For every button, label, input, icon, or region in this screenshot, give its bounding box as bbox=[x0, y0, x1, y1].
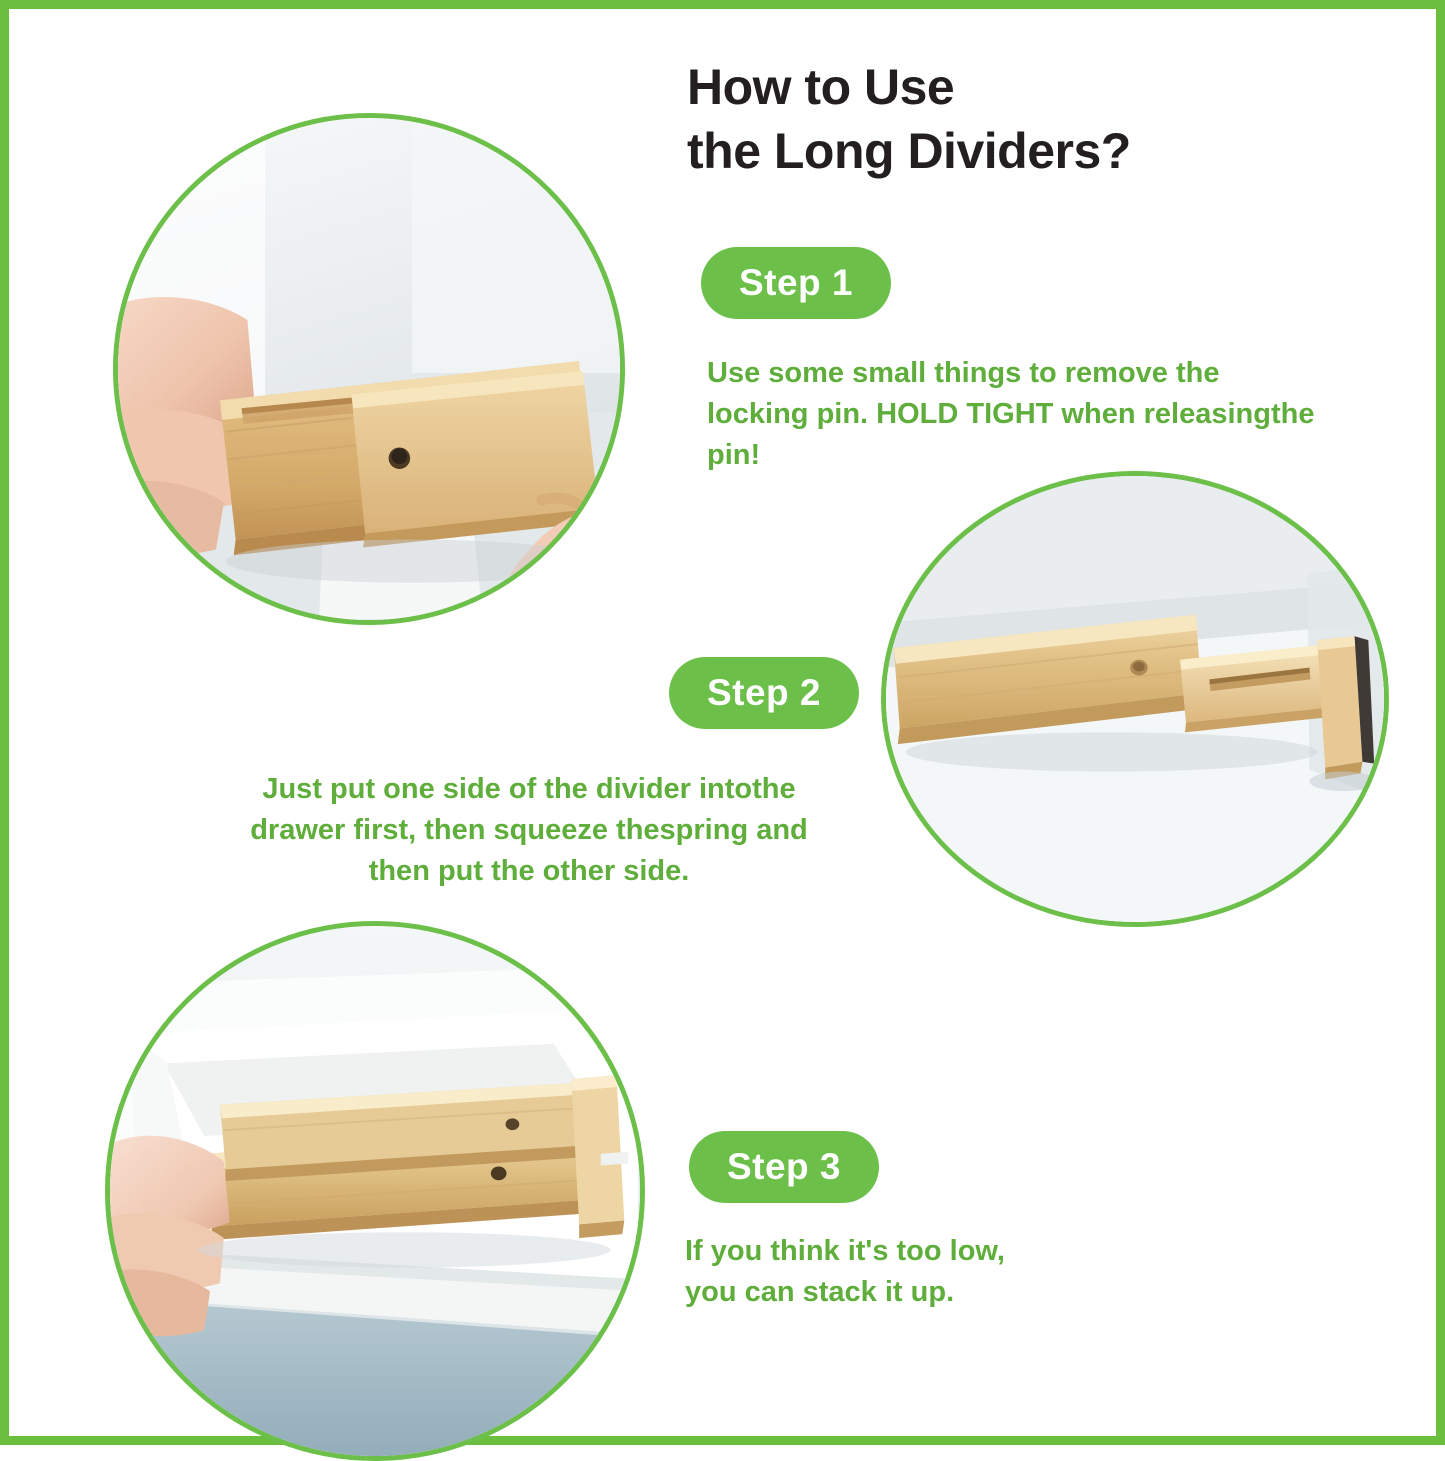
step-2-description-line-3: then put the other side. bbox=[189, 851, 869, 892]
step-1-description: Use some small things to remove the lock… bbox=[707, 353, 1419, 477]
step-2-description: Just put one side of the divider intothe… bbox=[189, 769, 869, 893]
step-1-photo bbox=[113, 113, 625, 625]
step-1-badge: Step 1 bbox=[701, 247, 891, 319]
step-2-photo bbox=[881, 471, 1389, 927]
step-2-illustration bbox=[886, 476, 1384, 922]
page-title-line-2: the Long Dividers? bbox=[687, 119, 1407, 183]
page-title-line-1: How to Use bbox=[687, 55, 1407, 119]
step-1-description-line-2: locking pin. HOLD TIGHT when releasingth… bbox=[707, 394, 1419, 435]
step-1-badge-label: Step 1 bbox=[739, 262, 853, 304]
step-3-photo bbox=[105, 921, 645, 1461]
step-2-description-line-1: Just put one side of the divider intothe bbox=[189, 769, 869, 810]
step-3-badge: Step 3 bbox=[689, 1131, 879, 1203]
step-3-description: If you think it's too low, you can stack… bbox=[685, 1231, 1245, 1313]
step-3-description-line-1: If you think it's too low, bbox=[685, 1231, 1245, 1272]
step-2-badge: Step 2 bbox=[669, 657, 859, 729]
step-1-illustration bbox=[118, 118, 620, 620]
page-title: How to Use the Long Dividers? bbox=[687, 55, 1407, 183]
step-3-illustration bbox=[110, 926, 640, 1456]
step-3-badge-label: Step 3 bbox=[727, 1146, 841, 1188]
infographic-page: How to Use the Long Dividers? bbox=[0, 0, 1445, 1445]
step-2-description-line-2: drawer first, then squeeze thespring and bbox=[189, 810, 869, 851]
step-1-description-line-3: pin! bbox=[707, 435, 1419, 476]
step-3-description-line-2: you can stack it up. bbox=[685, 1272, 1245, 1313]
step-1-description-line-1: Use some small things to remove the bbox=[707, 353, 1419, 394]
step-2-badge-label: Step 2 bbox=[707, 672, 821, 714]
